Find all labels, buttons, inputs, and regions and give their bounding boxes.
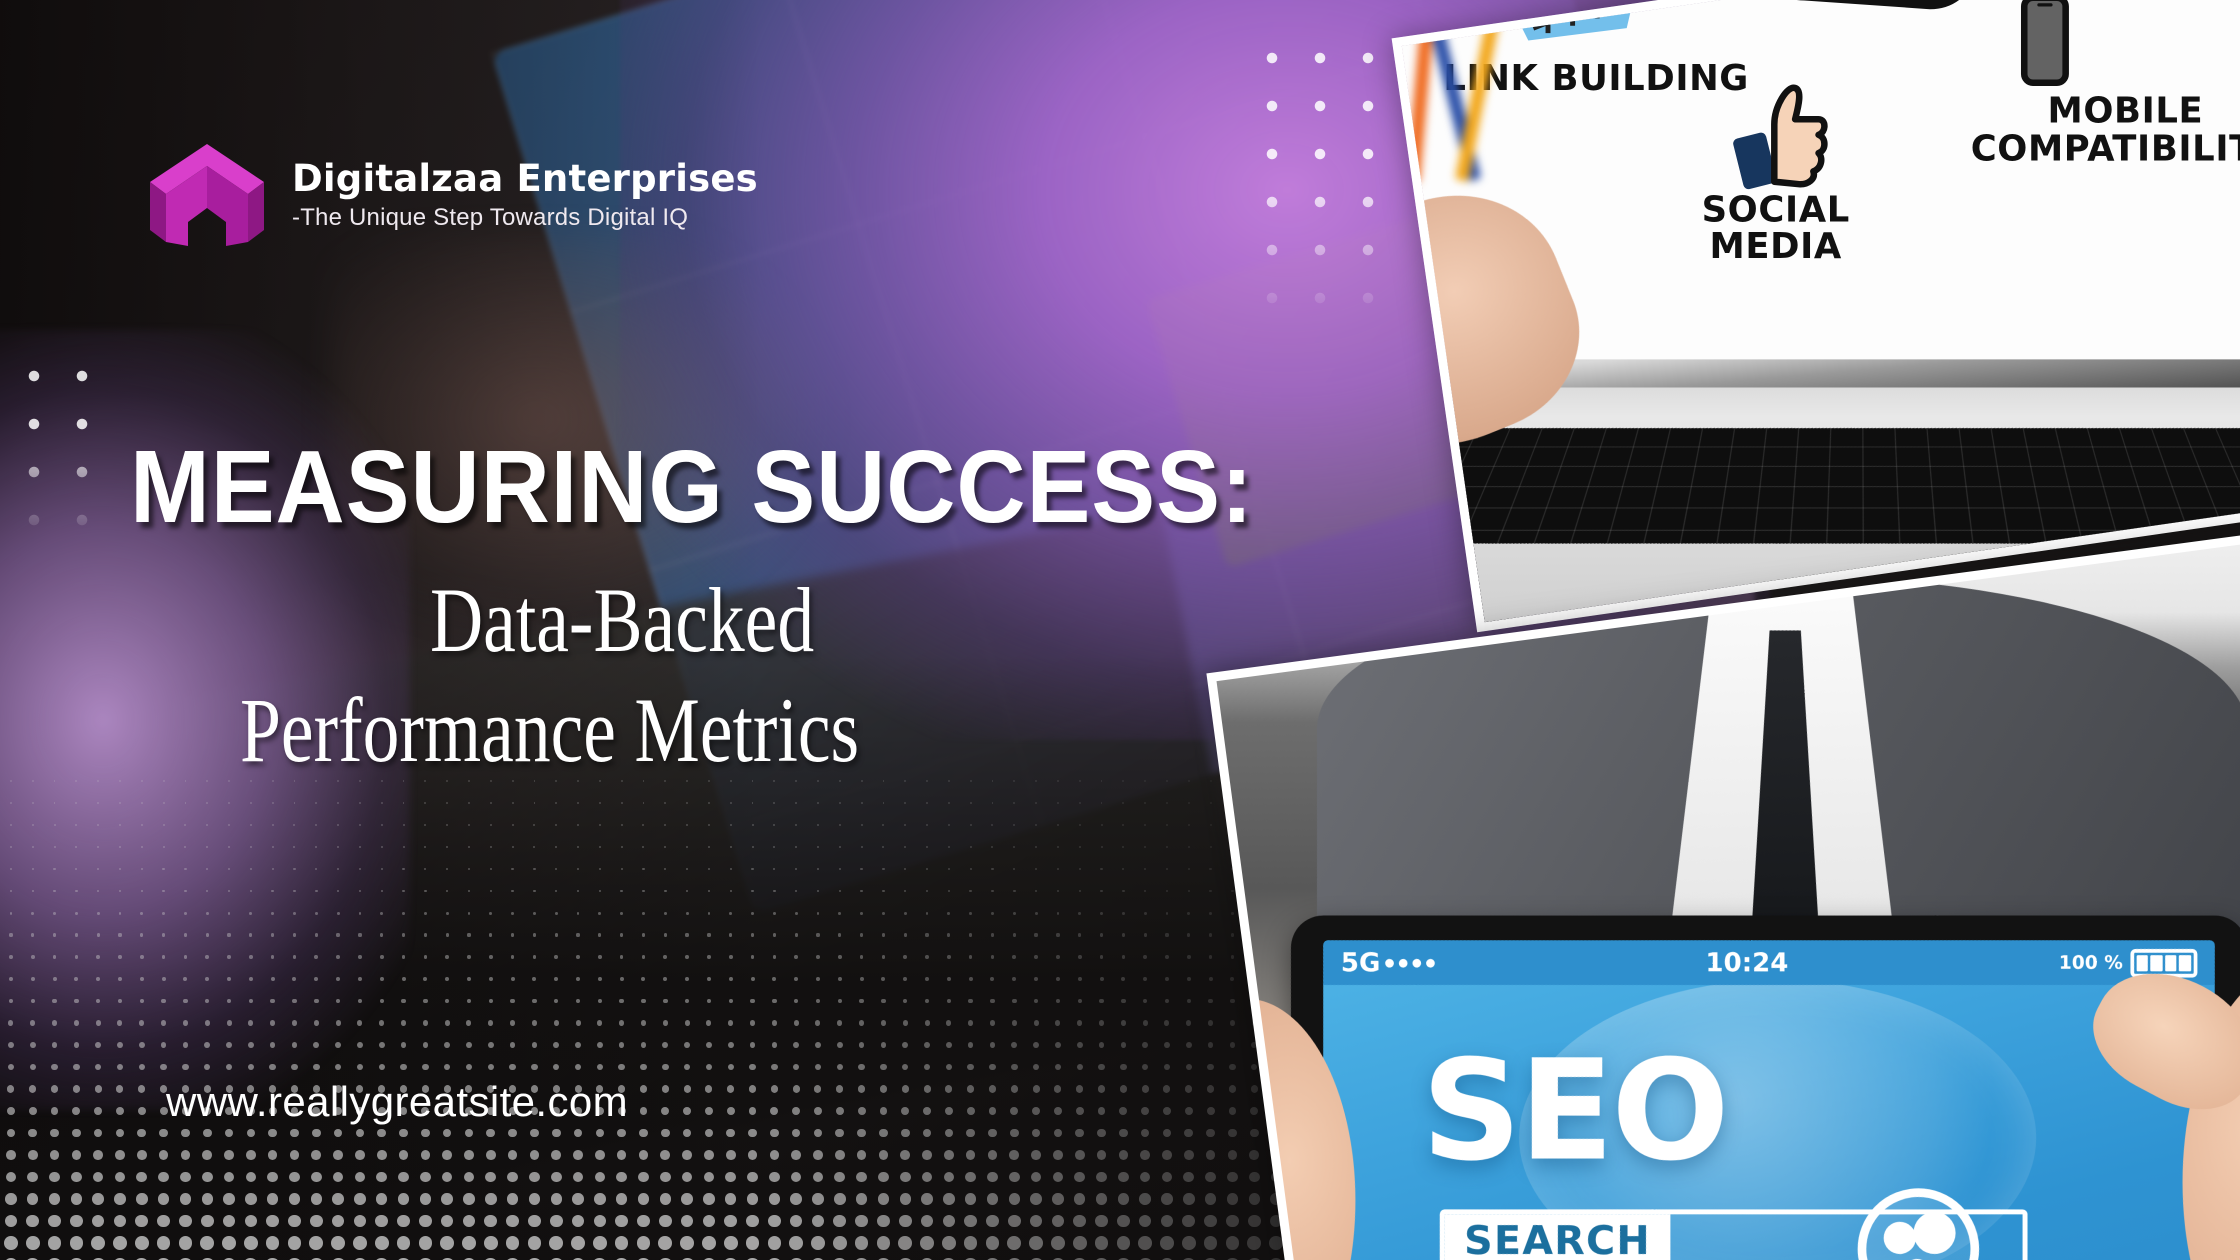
brand-logo-block[interactable]: Digitalzaa Enterprises -The Unique Step …: [148, 142, 758, 250]
dot-grid-icon-left: [10, 352, 116, 542]
halftone-row: [0, 924, 1440, 946]
keyboard-keys: [1392, 428, 2240, 543]
network-label: 5G: [1341, 948, 1381, 978]
marketing-banner: Digitalzaa Enterprises -The Unique Step …: [0, 0, 2240, 1260]
photo-panel-laptop: SEO LINK BUILDING SOCIAL MEDIA: [1392, 0, 2240, 632]
website-url[interactable]: www.reallygreatsite.com: [166, 1078, 628, 1126]
doodle-label-mobile-compatibility: MOBILE COMPATIBILITY: [1917, 92, 2240, 167]
halftone-row: [0, 880, 1440, 902]
halftone-row: [0, 1034, 1440, 1056]
halftone-row: [0, 814, 1440, 836]
search-label: SEARCH: [1444, 1214, 1670, 1260]
battery-indicator: 100 %: [2059, 948, 2197, 977]
halftone-row: [0, 1166, 1440, 1188]
smartphone-icon: [1993, 0, 2097, 87]
halftone-row: [0, 858, 1440, 880]
halftone-row: [0, 946, 1440, 968]
thumbs-up-icon: [1710, 78, 1852, 195]
tablet-screen[interactable]: 5G 10:24 100 % SEO SEARCH: [1323, 940, 2214, 1260]
halftone-gradient-pattern: [0, 770, 1440, 1260]
battery-full-icon: [2130, 948, 2197, 977]
halftone-row: [0, 1188, 1440, 1210]
halftone-row: [0, 902, 1440, 924]
network-indicator: 5G: [1341, 948, 1435, 978]
halftone-row: [0, 836, 1440, 858]
brand-name: Digitalzaa Enterprises: [292, 160, 758, 199]
halftone-row: [0, 1254, 1440, 1260]
tablet-status-bar: 5G 10:24 100 %: [1323, 940, 2214, 986]
halftone-row: [0, 1012, 1440, 1034]
clock-time: 10:24: [1705, 948, 1788, 978]
dot-grid-icon-top-right: [1248, 34, 1406, 324]
doodle-label-social-media: SOCIAL MEDIA: [1643, 191, 1908, 266]
tablet-device: 5G 10:24 100 % SEO SEARCH: [1291, 916, 2240, 1260]
battery-percent: 100 %: [2059, 952, 2123, 974]
halftone-row: [0, 1056, 1440, 1078]
chevron-3d-icon: [148, 142, 266, 250]
headline-secondary-line-1: Data-Backed: [430, 574, 814, 666]
halftone-row: [0, 990, 1440, 1012]
brand-tagline: -The Unique Step Towards Digital IQ: [292, 204, 758, 232]
halftone-row: [0, 1210, 1440, 1232]
headline-primary: MEASURING SUCCESS:: [130, 428, 1254, 546]
signal-dots-icon: [1385, 958, 1435, 967]
halftone-row: [0, 968, 1440, 990]
headline-secondary-line-2: Performance Metrics: [240, 684, 859, 776]
tablet-seo-title: SEO: [1422, 1041, 1728, 1180]
halftone-row: [0, 1144, 1440, 1166]
halftone-row: [0, 1232, 1440, 1254]
